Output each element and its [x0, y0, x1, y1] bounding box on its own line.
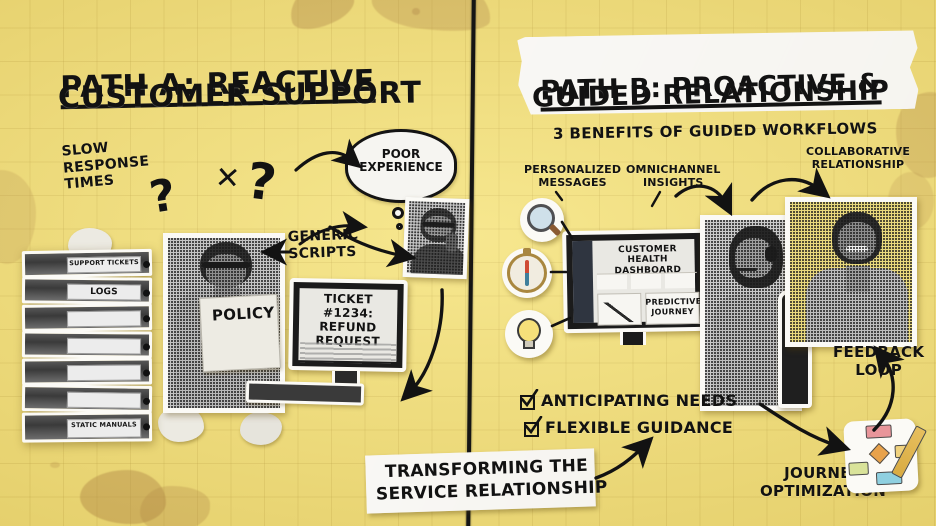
label-policy: POLICY: [212, 305, 275, 324]
cross-mark-1: ✕: [214, 162, 242, 195]
binder-row: SUPPORT TICKETS: [22, 249, 152, 278]
dashboard-sidebar: [572, 241, 593, 323]
binder-row: [22, 330, 152, 358]
dashboard-chart-line: [599, 302, 639, 323]
binder-label: STATIC MANUALS: [67, 418, 141, 438]
binder-row: STATIC MANUALS: [22, 411, 152, 442]
binder-row: [22, 357, 152, 385]
dashboard-kpi-row: [597, 272, 697, 290]
photo-happy-customer: [785, 197, 917, 347]
binder-label: LOGS: [67, 284, 141, 301]
binder-stack: SUPPORT TICKETS LOGS STATIC MANUALS: [22, 250, 154, 450]
binder-label: [67, 310, 141, 327]
label-feedback-loop: FEEDBACK LOOP: [833, 344, 924, 379]
binder-label: SUPPORT TICKETS: [67, 256, 141, 273]
label-collaborative-relationship: COLLABORATIVE RELATIONSHIP: [806, 145, 910, 171]
poster-canvas: PATH A: REACTIVE CUSTOMER SUPPORT SLOW R…: [0, 0, 936, 526]
label-generic-scripts: GENERIC SCRIPTS: [287, 227, 359, 263]
photo-frustrated-customer: [403, 197, 470, 279]
compass-icon: [502, 248, 552, 298]
binder-row: LOGS: [22, 276, 152, 304]
dashboard-monitor-stand: [620, 332, 646, 345]
thought-bubble-dot-small: [396, 223, 403, 230]
lightbulb-icon: [505, 310, 553, 358]
keyboard: [246, 380, 365, 405]
dashboard-monitor: CUSTOMER HEALTH DASHBOARD PREDICTIVE JOU…: [562, 229, 706, 333]
checklist-label: FLEXIBLE GUIDANCE: [545, 420, 733, 437]
label-poor-experience: POOR EXPERIENCE: [345, 148, 457, 174]
ticket-screen-body-lines: [300, 342, 396, 364]
thought-bubble-dot-large: [392, 207, 404, 219]
binder-row: [22, 384, 152, 413]
label-personalized-messages: PERSONALIZED MESSAGES: [524, 163, 621, 189]
binder-label: [67, 338, 141, 355]
binder-label: [67, 392, 141, 409]
magnifier-icon: [520, 198, 564, 242]
label-slow-response-times: SLOW RESPONSE TIMES: [61, 136, 151, 193]
label-ticket-refund-request: TICKET #1234: REFUND REQUEST: [297, 292, 400, 349]
checklist-label: ANTICIPATING NEEDS: [541, 393, 737, 410]
binder-label: [67, 365, 141, 382]
label-omnichannel-insights: OMNICHANNEL INSIGHTS: [626, 163, 721, 189]
check-mark-icon: [523, 416, 545, 438]
dashboard-screen: CUSTOMER HEALTH DASHBOARD PREDICTIVE JOU…: [572, 239, 695, 323]
left-panel-title-line2: CUSTOMER SUPPORT: [58, 76, 422, 115]
binder-row: [22, 303, 152, 332]
check-mark-icon: [519, 389, 541, 411]
label-predictive-journey: PREDICTIVE JOURNEY: [645, 297, 699, 317]
